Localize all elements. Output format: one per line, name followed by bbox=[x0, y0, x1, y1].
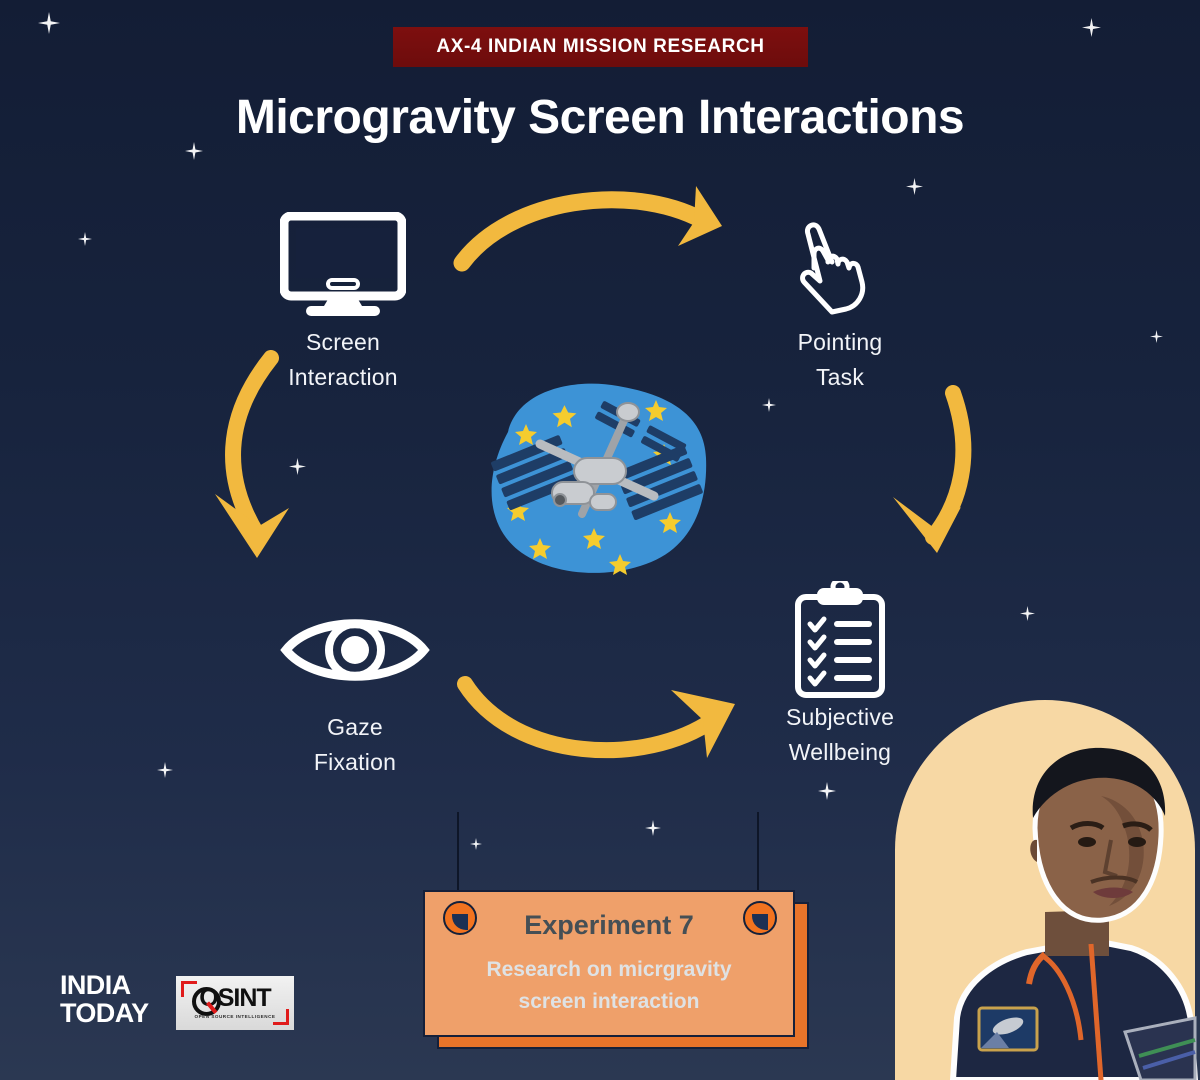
astronaut-portrait bbox=[895, 700, 1200, 1080]
mission-patch bbox=[979, 1008, 1037, 1050]
callout-pin-left bbox=[443, 901, 477, 935]
cycle-node-pointing-task[interactable]: Pointing Task bbox=[740, 205, 940, 394]
page-title: Microgravity Screen Interactions bbox=[0, 90, 1200, 145]
infographic-canvas: AX-4 INDIAN MISSION RESEARCH Microgravit… bbox=[0, 0, 1200, 1080]
star-decoration bbox=[818, 782, 836, 800]
pointing-hand-icon bbox=[740, 205, 940, 325]
cycle-node-screen-interaction[interactable]: Screen Interaction bbox=[243, 205, 443, 394]
node-label-line1: Screen bbox=[243, 325, 443, 360]
callout-card[interactable]: Experiment 7 Research on micrgravity scr… bbox=[423, 890, 795, 1037]
star-decoration bbox=[78, 232, 92, 246]
monitor-icon bbox=[243, 205, 443, 325]
callout-subtitle: Research on micrgravity screen interacti… bbox=[425, 954, 793, 1017]
india-today-logo: INDIA TODAY bbox=[60, 972, 149, 1027]
osint-tagline: OPEN SOURCE INTELLIGENCE bbox=[176, 1014, 294, 1019]
star-decoration bbox=[38, 12, 60, 34]
cycle-node-gaze-fixation[interactable]: Gaze Fixation bbox=[255, 590, 455, 779]
callout-subtitle-line2: screen interaction bbox=[425, 986, 793, 1018]
mission-banner-label: AX-4 INDIAN MISSION RESEARCH bbox=[436, 36, 764, 58]
star-decoration bbox=[1082, 18, 1101, 37]
star-decoration bbox=[157, 762, 173, 778]
eye-icon bbox=[255, 590, 455, 710]
node-label-line1: Gaze bbox=[255, 710, 455, 745]
clipboard-checklist-icon bbox=[740, 580, 940, 700]
node-label-line2: Task bbox=[740, 360, 940, 395]
arrow-right bbox=[875, 385, 995, 575]
node-label-line1: Pointing bbox=[740, 325, 940, 360]
india-today-line2: TODAY bbox=[60, 1000, 149, 1028]
star-decoration bbox=[645, 820, 661, 836]
star-decoration bbox=[1150, 330, 1163, 343]
callout-pin-right bbox=[743, 901, 777, 935]
callout-title: Experiment 7 bbox=[425, 910, 793, 941]
node-label-line2: Interaction bbox=[243, 360, 443, 395]
star-decoration bbox=[1020, 606, 1035, 621]
india-today-line1: INDIA bbox=[60, 972, 149, 1000]
callout-subtitle-line1: Research on micrgravity bbox=[425, 954, 793, 986]
arrow-top bbox=[450, 168, 750, 293]
node-label-line2: Fixation bbox=[255, 745, 455, 780]
star-decoration bbox=[470, 838, 482, 850]
star-decoration bbox=[906, 178, 923, 195]
arrow-bottom bbox=[445, 662, 765, 792]
mission-banner: AX-4 INDIAN MISSION RESEARCH bbox=[393, 27, 808, 67]
star-decoration bbox=[762, 398, 776, 412]
osint-logo: OSINT OPEN SOURCE INTELLIGENCE bbox=[176, 976, 294, 1030]
space-station-illustration bbox=[478, 372, 714, 584]
